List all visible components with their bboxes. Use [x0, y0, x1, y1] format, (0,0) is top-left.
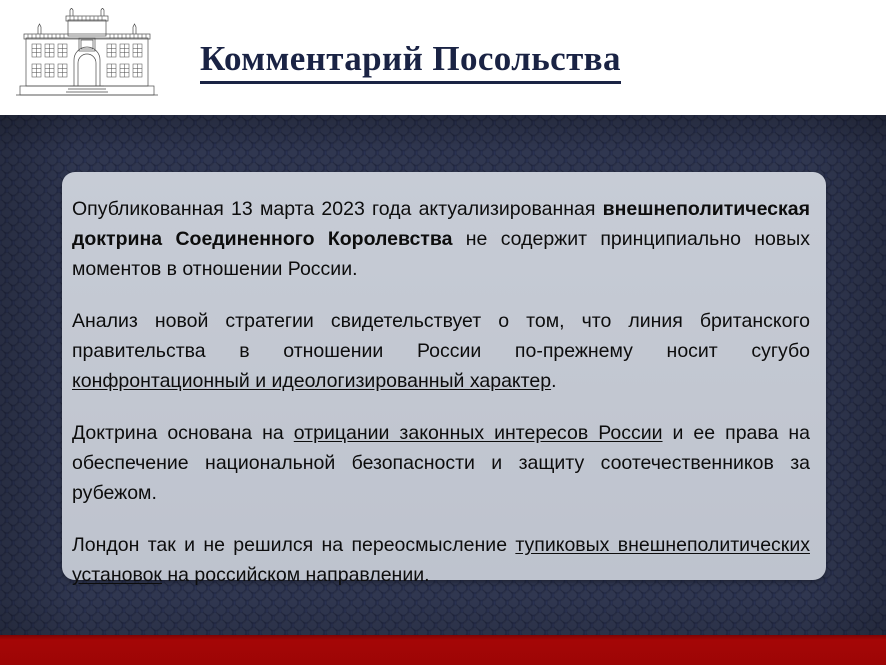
content-card: Опубликованная 13 марта 2023 года актуал…: [62, 172, 826, 580]
footer-red-stripe: [0, 635, 886, 665]
text-run: .: [551, 370, 556, 392]
paragraph-4: Лондон так и не решился на переосмыслени…: [72, 530, 810, 590]
page-title-group: Комментарий Посольства: [200, 38, 621, 84]
paragraph-3: Доктрина основана на отрицании законных …: [72, 418, 810, 508]
text-run: на российском направлении.: [162, 564, 430, 586]
paragraph-2: Анализ новой стратегии свидетельствует о…: [72, 306, 810, 396]
page-title: Комментарий Посольства: [200, 38, 621, 80]
slide-root: Комментарий Посольства Опубликованная 13…: [0, 0, 886, 665]
text-run: Опубликованная 13 марта 2023 года актуал…: [72, 198, 603, 220]
emphasis-underline: конфронтационный и идеологизированный ха…: [72, 370, 551, 392]
header-band: Комментарий Посольства: [0, 0, 886, 115]
text-run: Доктрина основана на: [72, 422, 294, 444]
embassy-building-icon: [12, 8, 162, 104]
title-underline-rule: [200, 81, 621, 84]
paragraph-1: Опубликованная 13 марта 2023 года актуал…: [72, 194, 810, 284]
text-run: Анализ новой стратегии свидетельствует о…: [72, 310, 810, 362]
text-run: Лондон так и не решился на переосмыслени…: [72, 534, 515, 556]
emphasis-underline: отрицании законных интересов России: [294, 422, 663, 444]
